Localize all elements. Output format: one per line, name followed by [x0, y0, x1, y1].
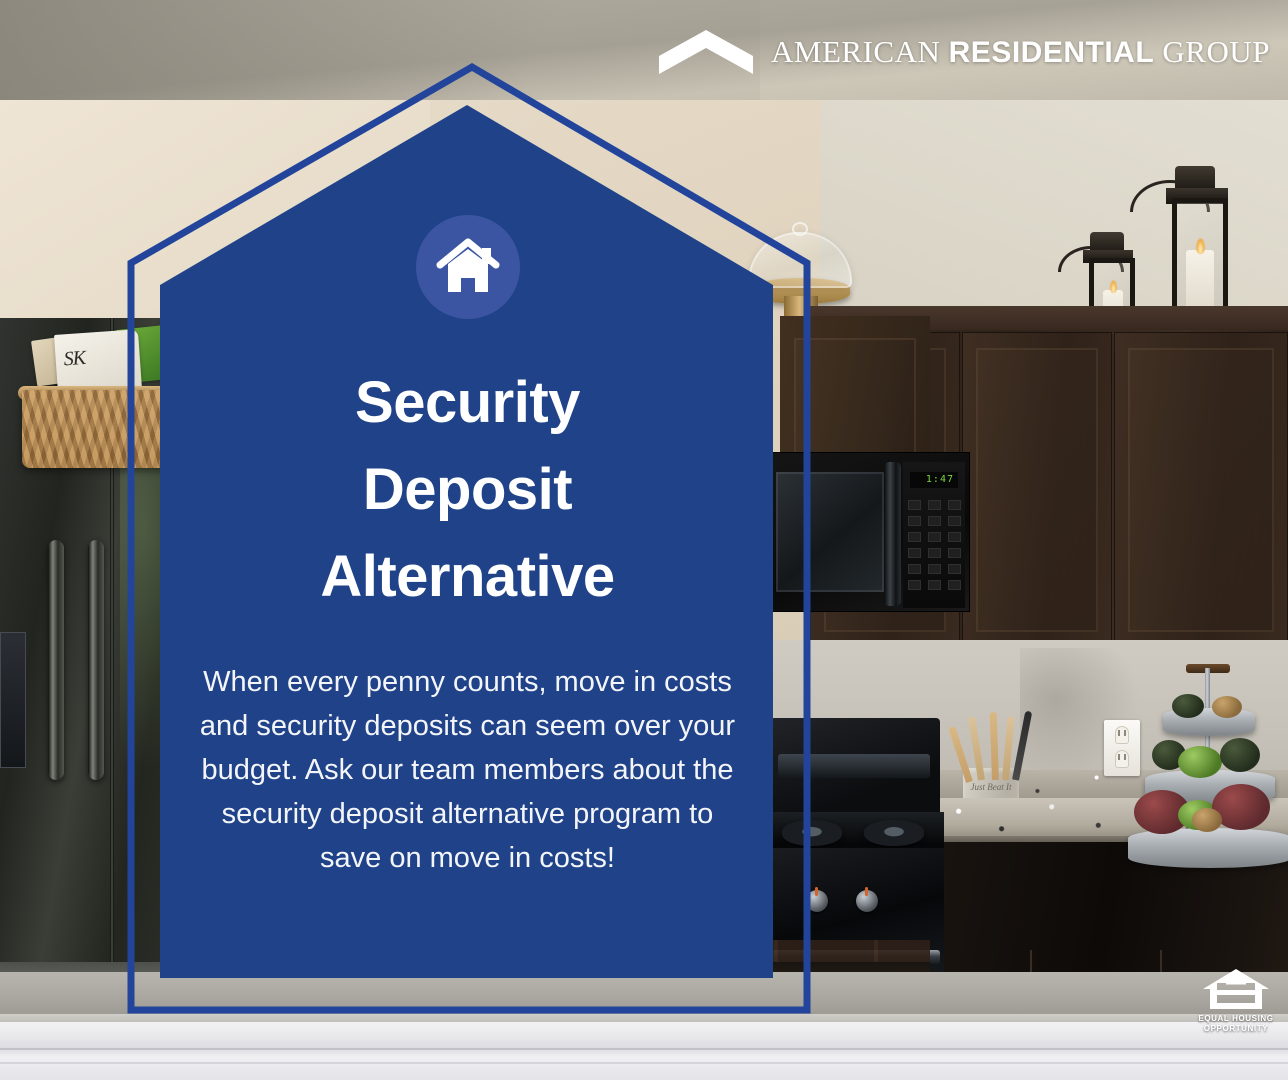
- page-title: Security Deposit Alternative: [160, 359, 775, 620]
- eho-line-1: EQUAL HOUSING: [1194, 1014, 1278, 1024]
- house-icon: [436, 238, 500, 296]
- house-icon-badge: [416, 215, 520, 319]
- chevron-roof-icon: [659, 28, 753, 76]
- headline-line-1: Security: [160, 359, 775, 446]
- body-paragraph: When every penny counts, move in costs a…: [198, 660, 738, 880]
- brand-name: AMERICAN RESIDENTIAL GROUP: [771, 34, 1270, 70]
- equal-housing-opportunity-logo: EQUAL HOUSING OPPORTUNITY: [1194, 967, 1278, 1034]
- promo-card: Security Deposit Alternative When every …: [160, 120, 775, 980]
- brand-name-part2: RESIDENTIAL: [949, 36, 1155, 69]
- brand-name-part3: GROUP: [1154, 34, 1270, 69]
- brand-logo: AMERICAN RESIDENTIAL GROUP: [659, 28, 1270, 76]
- eho-line-2: OPPORTUNITY: [1194, 1024, 1278, 1034]
- headline-line-2: Deposit: [160, 446, 775, 533]
- brand-name-part1: AMERICAN: [771, 34, 949, 69]
- headline-line-3: Alternative: [160, 533, 775, 620]
- equal-housing-house-icon: [1201, 967, 1271, 1011]
- graphic-canvas: 1:47 Just Beat It: [0, 0, 1288, 1080]
